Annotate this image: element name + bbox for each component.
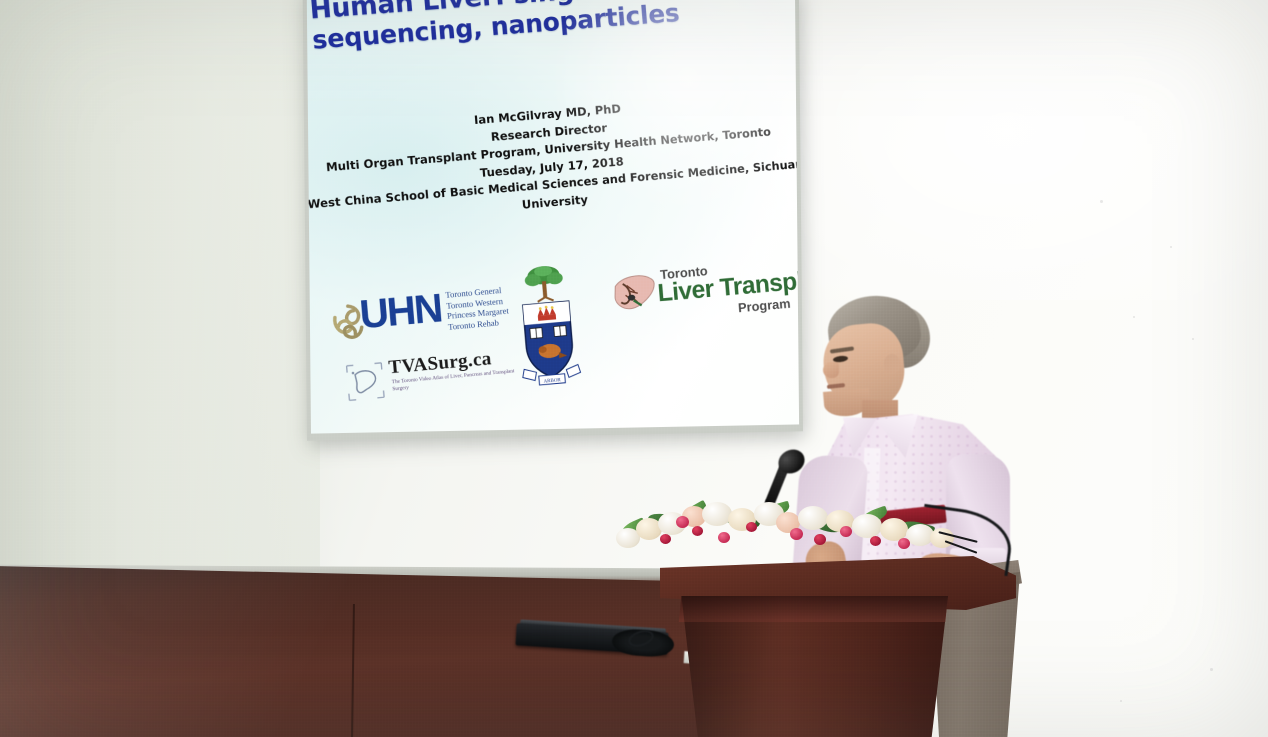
slide-title: Defining a... Human Liver: single cell .…	[307, 0, 782, 55]
uoft-crest: ARBOR	[512, 261, 584, 394]
flower	[852, 514, 882, 538]
liver-transplant-logo: Toronto Liver Transplant Program	[608, 252, 797, 345]
speaker-ear	[884, 354, 900, 374]
accent-flower	[676, 516, 689, 528]
accent-flower	[898, 538, 910, 549]
accent-flower	[660, 534, 671, 544]
slide: Defining a... Human Liver: single cell .…	[307, 0, 799, 434]
wall-speck	[1192, 338, 1194, 340]
uhn-logo: UHN Toronto General Toronto Western Prin…	[330, 283, 503, 350]
liver-transplant-line3: Program	[738, 296, 791, 315]
liver-outline-icon	[343, 360, 387, 404]
wall-speck	[1100, 200, 1103, 203]
projection-screen-frame: Defining a... Human Liver: single cell .…	[303, 0, 803, 441]
wall-speck	[1170, 246, 1172, 248]
accent-flower	[870, 536, 881, 546]
accent-flower	[840, 526, 852, 537]
accent-flower	[718, 532, 730, 543]
podium-bevel	[676, 596, 948, 622]
left-wall	[0, 0, 320, 575]
speaker-nose	[823, 362, 839, 378]
flower	[798, 506, 828, 530]
projection-screen: Defining a... Human Liver: single cell .…	[307, 0, 799, 434]
uhn-site-list: Toronto General Toronto Western Princess…	[445, 284, 515, 332]
uhn-wordmark: UHN	[358, 286, 443, 337]
stem	[945, 540, 978, 554]
accent-flower	[692, 526, 703, 536]
stage-front-panel	[0, 566, 716, 737]
wall-speck	[1210, 668, 1213, 671]
liver-illustration-icon	[608, 269, 663, 321]
uoft-coat-of-arms-icon: ARBOR	[512, 261, 584, 394]
slide-logo-row: UHN Toronto General Toronto Western Prin…	[314, 235, 799, 427]
wall-speck	[1120, 700, 1122, 702]
accent-flower	[790, 528, 803, 540]
slide-byline: Ian McGilvray MD, PhD Research Director …	[307, 87, 797, 231]
accent-flower	[746, 522, 757, 532]
accent-flower	[814, 534, 826, 545]
flower-arrangement	[614, 492, 974, 572]
wall-speck	[1133, 316, 1135, 318]
presentation-photo: Defining a... Human Liver: single cell .…	[0, 0, 1268, 737]
tvasurg-logo: TVASurg.ca The Toronto Video Atlas of Li…	[343, 345, 528, 407]
